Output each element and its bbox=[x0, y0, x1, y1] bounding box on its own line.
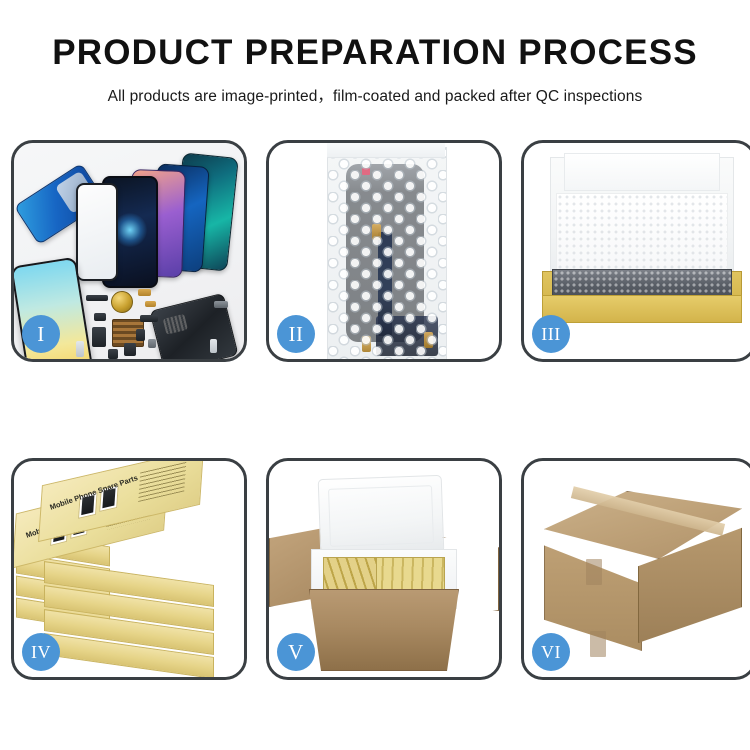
mailer-lid-tab bbox=[564, 153, 720, 191]
step-numeral-6: VI bbox=[541, 643, 561, 661]
process-steps-grid: I II bbox=[0, 140, 750, 680]
step-numeral-3: III bbox=[541, 325, 560, 343]
page-title: PRODUCT PREPARATION PROCESS bbox=[0, 34, 750, 73]
box-art-text-lines bbox=[138, 462, 186, 502]
process-step-panel-5[interactable]: V bbox=[266, 458, 502, 680]
step-6-image: VI bbox=[524, 461, 750, 677]
page-subtitle: All products are image-printed，film-coat… bbox=[0, 84, 750, 106]
tape-tab-upper bbox=[586, 559, 602, 585]
small-part bbox=[86, 295, 108, 301]
step-2-image: II bbox=[269, 143, 499, 359]
process-step-panel-3[interactable]: III bbox=[521, 140, 750, 362]
step-numeral-2: II bbox=[289, 324, 304, 345]
packed-parts-layer bbox=[552, 269, 732, 297]
step-badge-2: II bbox=[277, 315, 315, 353]
taptic-coil-part bbox=[111, 291, 133, 313]
small-part bbox=[145, 301, 156, 307]
small-part bbox=[140, 315, 158, 322]
small-part bbox=[210, 339, 217, 353]
step-badge-4: IV bbox=[22, 633, 60, 671]
process-step-panel-4[interactable]: Mobile Phone Spare Parts Mobile Phone Sp… bbox=[11, 458, 247, 680]
step-badge-6: VI bbox=[532, 633, 570, 671]
small-part bbox=[136, 329, 145, 341]
small-part bbox=[92, 327, 106, 347]
foam-lid bbox=[318, 475, 445, 557]
step-5-image: V bbox=[269, 461, 499, 677]
kraft-box-front-panel bbox=[542, 295, 742, 323]
step-4-image: Mobile Phone Spare Parts Mobile Phone Sp… bbox=[14, 461, 244, 677]
tape-tab-lower bbox=[590, 631, 606, 657]
small-part bbox=[124, 343, 136, 356]
step-badge-5: V bbox=[277, 633, 315, 671]
bag-seal-edge bbox=[327, 143, 445, 158]
bubble-wrap-bag bbox=[327, 147, 447, 359]
step-3-image: III bbox=[524, 143, 750, 359]
small-part bbox=[108, 349, 118, 359]
small-part bbox=[214, 301, 228, 308]
step-numeral-1: I bbox=[37, 324, 45, 345]
step-numeral-4: IV bbox=[31, 643, 51, 661]
small-part bbox=[148, 339, 156, 348]
foam-sheet bbox=[556, 193, 728, 281]
step-1-image: I bbox=[14, 143, 244, 359]
bubble-texture bbox=[328, 148, 446, 359]
step-badge-1: I bbox=[22, 315, 60, 353]
small-part bbox=[138, 289, 151, 296]
small-part bbox=[94, 313, 106, 321]
process-step-panel-2[interactable]: II bbox=[266, 140, 502, 362]
step-badge-3: III bbox=[532, 315, 570, 353]
process-step-panel-6[interactable]: VI bbox=[521, 458, 750, 680]
process-step-panel-1[interactable]: I bbox=[11, 140, 247, 362]
small-part bbox=[76, 341, 84, 357]
step-numeral-5: V bbox=[288, 642, 304, 663]
page-header: PRODUCT PREPARATION PROCESS All products… bbox=[0, 0, 750, 106]
carton-body bbox=[309, 589, 459, 671]
phone-glass-panel bbox=[76, 183, 118, 281]
